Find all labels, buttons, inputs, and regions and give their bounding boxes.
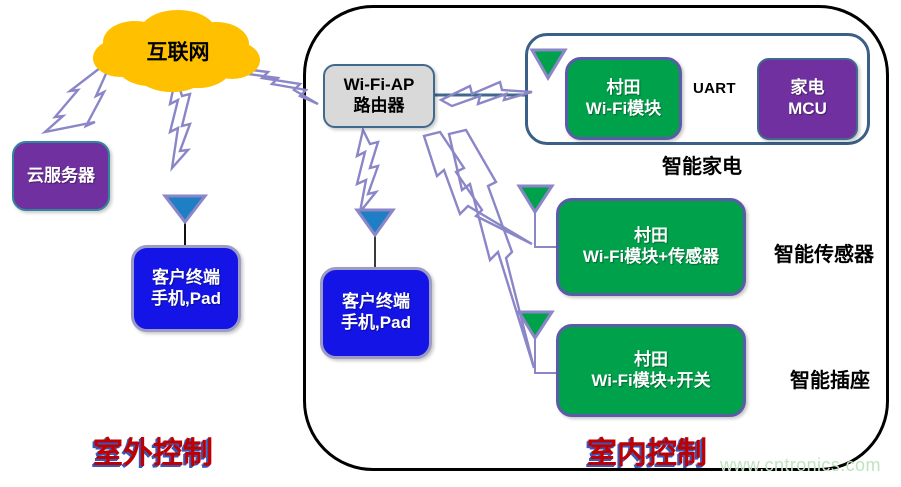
node-cloud-server[interactable]: 云服务器 [12,141,110,211]
antenna-icon [165,196,205,222]
node-wifi-switch[interactable]: 村田 Wi-Fi模块+开关 [556,324,746,417]
node-client-outdoor-line2: 手机,Pad [151,289,221,310]
node-router-line1: Wi-Fi-AP [344,75,415,96]
internet-cloud-label: 互联网 [118,36,238,66]
node-wifi-module-line2: Wi-Fi模块 [586,99,661,120]
caption-indoor-control: 室内控制 [587,428,707,472]
uart-connection-label: UART [692,80,737,97]
node-appliance-mcu-line2: MCU [788,99,827,120]
caption-smart-sensor: 智能传感器 [774,238,874,267]
node-wifi-switch-line2: Wi-Fi模块+开关 [591,371,710,392]
node-client-outdoor-line1: 客户终端 [152,268,220,289]
node-client-outdoor[interactable]: 客户终端 手机,Pad [131,245,241,332]
node-client-indoor-line2: 手机,Pad [341,313,411,334]
caption-smart-socket: 智能插座 [790,364,870,393]
node-wifi-ap-router[interactable]: Wi-Fi-AP 路由器 [323,64,435,128]
node-client-indoor[interactable]: 客户终端 手机,Pad [320,267,432,359]
node-wifi-sensor-line1: 村田 [634,226,668,247]
diagram-canvas: 互联网 [0,0,901,487]
node-appliance-mcu[interactable]: 家电 MCU [757,58,858,140]
node-appliance-mcu-line1: 家电 [791,78,825,99]
caption-outdoor-control: 室外控制 [93,428,213,472]
node-wifi-switch-line1: 村田 [634,350,668,371]
node-client-indoor-line1: 客户终端 [342,292,410,313]
node-wifi-module-line1: 村田 [607,78,641,99]
node-cloud-server-line1: 云服务器 [27,166,95,187]
site-watermark: www.cntronics.com [720,455,881,476]
caption-smart-appliance: 智能家电 [662,150,742,179]
node-wifi-sensor-line2: Wi-Fi模块+传感器 [583,247,719,268]
node-wifi-module[interactable]: 村田 Wi-Fi模块 [565,57,682,140]
node-router-line2: 路由器 [354,96,405,117]
node-wifi-sensor[interactable]: 村田 Wi-Fi模块+传感器 [556,198,746,296]
